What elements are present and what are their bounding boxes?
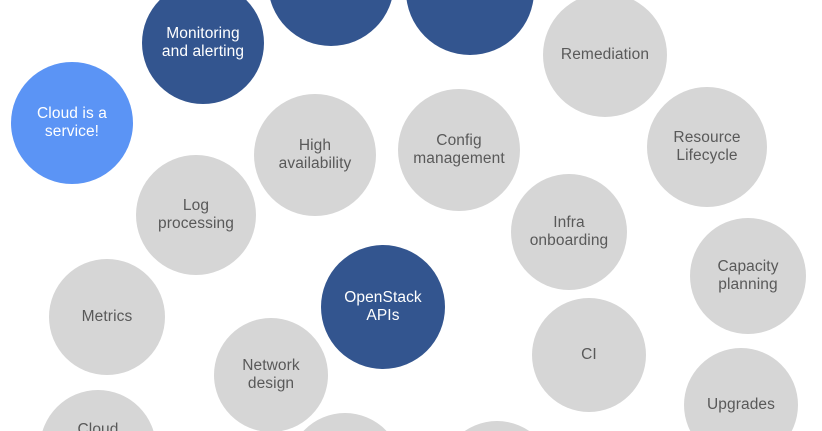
bubble-label-metrics: Metrics <box>52 308 161 326</box>
bubble-label-monitoring-and-alerting: Monitoring and alerting <box>146 25 261 62</box>
bubble-bottom-partial-right <box>440 421 554 431</box>
bubble-openstack-apis: OpenStack APIs <box>321 245 445 369</box>
bubble-label-and-chargeback: and chargeback <box>272 0 390 1</box>
bubble-monitoring-and-alerting: Monitoring and alerting <box>142 0 264 104</box>
bubble-label-config-management: Config management <box>402 132 517 169</box>
bubble-label-remediation: Remediation <box>547 46 664 64</box>
bubble-label-network-design: Network design <box>217 357 324 394</box>
bubble-and-chargeback: and chargeback <box>268 0 394 46</box>
bubble-cloud-bottom-left: Cloud <box>40 390 156 431</box>
bubble-metrics: Metrics <box>49 259 165 375</box>
bubble-label-cloud-bottom-left: Cloud <box>43 421 152 431</box>
bubble-autoscaling: Autoscaling <box>406 0 534 55</box>
bubble-cloud-is-a-service: Cloud is a service! <box>11 62 133 184</box>
bubble-label-upgrades: Upgrades <box>687 396 794 414</box>
bubble-infra-onboarding: Infra onboarding <box>511 174 627 290</box>
bubble-label-capacity-planning: Capacity planning <box>693 258 802 295</box>
bubble-upgrades: Upgrades <box>684 348 798 431</box>
bubble-config-management: Config management <box>398 89 520 211</box>
bubble-label-resource-lifecycle: Resource Lifecycle <box>651 129 764 166</box>
bubble-label-openstack-apis: OpenStack APIs <box>325 289 442 326</box>
bubble-diagram-canvas: Monitoring and alertingand chargebackAut… <box>0 0 822 431</box>
bubble-label-log-processing: Log processing <box>140 197 253 234</box>
bubble-label-infra-onboarding: Infra onboarding <box>514 214 623 251</box>
bubble-label-cloud-is-a-service: Cloud is a service! <box>15 105 130 142</box>
bubble-ci: CI <box>532 298 646 412</box>
bubble-label-ci: CI <box>535 346 642 364</box>
bubble-capacity-planning: Capacity planning <box>690 218 806 334</box>
bubble-label-high-availability: High availability <box>258 137 373 174</box>
bubble-remediation: Remediation <box>543 0 667 117</box>
bubble-resource-lifecycle: Resource Lifecycle <box>647 87 767 207</box>
bubble-log-processing: Log processing <box>136 155 256 275</box>
bubble-high-availability: High availability <box>254 94 376 216</box>
bubble-network-design: Network design <box>214 318 328 431</box>
